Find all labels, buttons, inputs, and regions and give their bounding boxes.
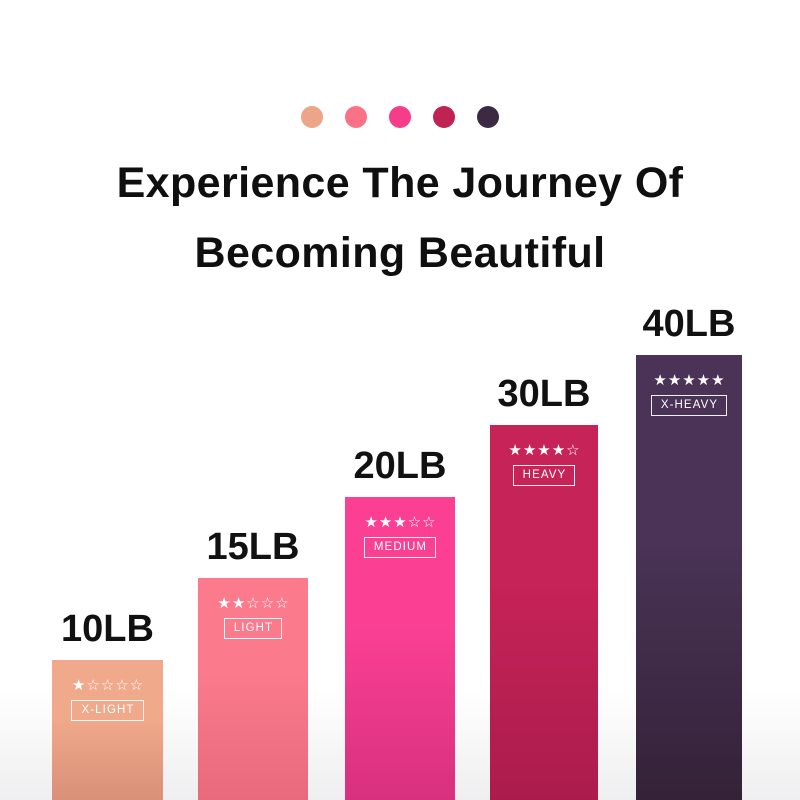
star-filled-icon: ★ <box>697 373 710 388</box>
resistance-level-label: HEAVY <box>513 465 576 486</box>
bar-value-label: 10LB <box>61 610 154 660</box>
resistance-level-label: LIGHT <box>224 618 282 639</box>
star-empty-icon: ☆ <box>86 678 99 693</box>
star-filled-icon: ★ <box>72 678 85 693</box>
bar-value-label: 20LB <box>354 447 447 497</box>
poster-canvas: Experience The Journey Of Becoming Beaut… <box>0 0 800 800</box>
star-empty-icon: ☆ <box>261 596 274 611</box>
star-empty-icon: ☆ <box>422 515 435 530</box>
bar-group-40lb[interactable]: 40LB★★★★★X-HEAVY <box>636 355 742 800</box>
star-filled-icon: ★ <box>364 515 377 530</box>
bar-group-10lb[interactable]: 10LB★☆☆☆☆X-LIGHT <box>52 660 163 800</box>
resistance-level-label: MEDIUM <box>364 537 436 558</box>
bar-rect: ★★★☆☆MEDIUM <box>345 497 455 800</box>
star-empty-icon: ☆ <box>246 596 259 611</box>
star-filled-icon: ★ <box>537 443 550 458</box>
star-filled-icon: ★ <box>711 373 724 388</box>
star-rating: ★☆☆☆☆ <box>72 678 143 693</box>
star-empty-icon: ☆ <box>408 515 421 530</box>
star-rating: ★★★☆☆ <box>364 515 435 530</box>
bar-badge: ★★★★☆HEAVY <box>490 443 598 486</box>
star-empty-icon: ☆ <box>275 596 288 611</box>
bar-badge: ★☆☆☆☆X-LIGHT <box>52 678 163 721</box>
star-rating: ★★★★★ <box>653 373 724 388</box>
star-empty-icon: ☆ <box>130 678 143 693</box>
bar-rect: ★☆☆☆☆X-LIGHT <box>52 660 163 800</box>
bar-value-label: 40LB <box>643 305 736 355</box>
star-empty-icon: ☆ <box>566 443 579 458</box>
star-filled-icon: ★ <box>653 373 666 388</box>
star-rating: ★★★★☆ <box>508 443 579 458</box>
star-empty-icon: ☆ <box>115 678 128 693</box>
bar-badge: ★★★☆☆MEDIUM <box>345 515 455 558</box>
resistance-level-label: X-HEAVY <box>651 395 727 416</box>
star-filled-icon: ★ <box>508 443 521 458</box>
star-filled-icon: ★ <box>217 596 230 611</box>
bar-badge: ★★☆☆☆LIGHT <box>198 596 308 639</box>
bar-rect: ★★★★☆HEAVY <box>490 425 598 800</box>
bar-group-15lb[interactable]: 15LB★★☆☆☆LIGHT <box>198 578 308 800</box>
star-filled-icon: ★ <box>523 443 536 458</box>
resistance-level-label: X-LIGHT <box>71 700 143 721</box>
star-filled-icon: ★ <box>682 373 695 388</box>
bar-rect: ★★☆☆☆LIGHT <box>198 578 308 800</box>
star-filled-icon: ★ <box>379 515 392 530</box>
star-filled-icon: ★ <box>232 596 245 611</box>
bar-rect: ★★★★★X-HEAVY <box>636 355 742 800</box>
bar-group-20lb[interactable]: 20LB★★★☆☆MEDIUM <box>345 497 455 800</box>
star-filled-icon: ★ <box>552 443 565 458</box>
star-filled-icon: ★ <box>393 515 406 530</box>
bar-group-30lb[interactable]: 30LB★★★★☆HEAVY <box>490 425 598 800</box>
star-rating: ★★☆☆☆ <box>217 596 288 611</box>
bar-value-label: 30LB <box>498 375 591 425</box>
bar-value-label: 15LB <box>207 528 300 578</box>
resistance-band-bar-chart: 10LB★☆☆☆☆X-LIGHT15LB★★☆☆☆LIGHT20LB★★★☆☆M… <box>0 0 800 800</box>
star-filled-icon: ★ <box>668 373 681 388</box>
star-empty-icon: ☆ <box>101 678 114 693</box>
bar-badge: ★★★★★X-HEAVY <box>636 373 742 416</box>
